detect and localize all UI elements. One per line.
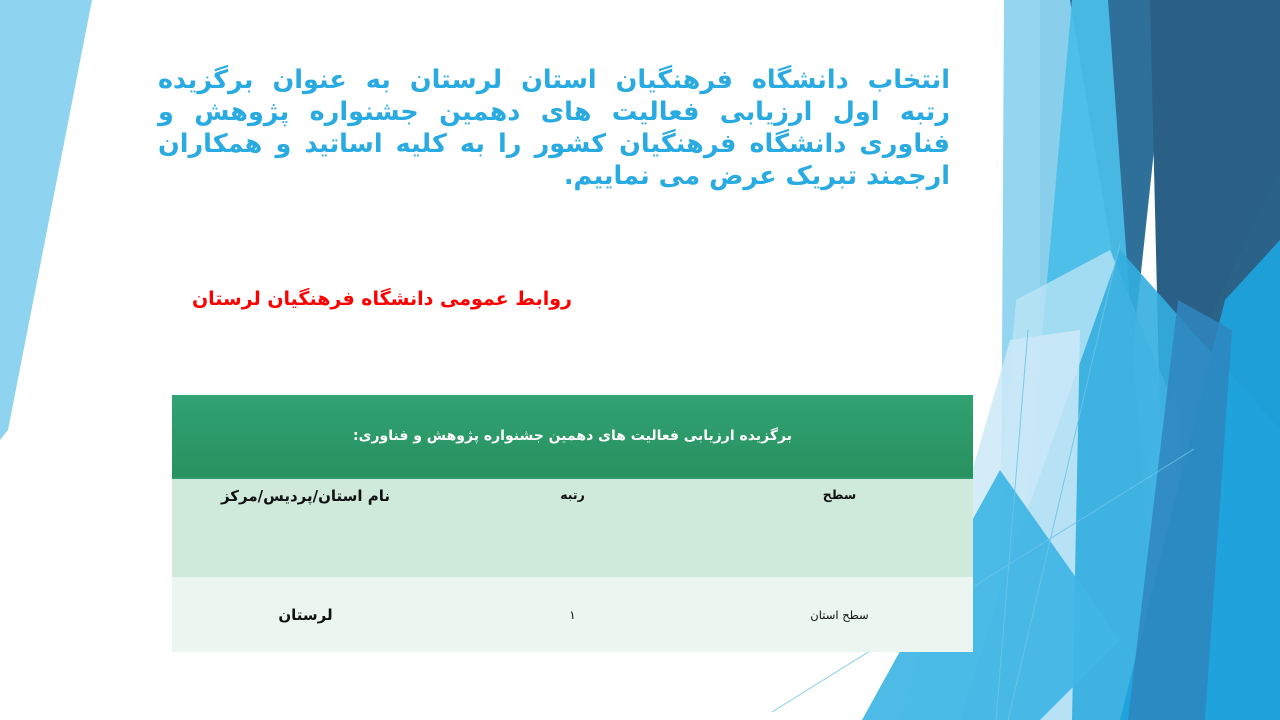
- column-header-rank: رتبه: [439, 478, 706, 577]
- title-line-3: فناوری دانشگاه فرهنگیان کشور را به کلیه …: [158, 128, 950, 160]
- column-header-name: نام استان/پردیس/مرکز: [172, 478, 439, 577]
- shape-left-wedge: [0, 0, 92, 440]
- column-header-level: سطح: [706, 478, 973, 577]
- results-table: برگزیده ارزیابی فعالیت های دهمین جشنواره…: [172, 395, 973, 652]
- public-relations-credit: روابط عمومی دانشگاه فرهنگیان لرستان: [192, 286, 572, 312]
- cell-name: لرستان: [172, 577, 439, 652]
- presentation-slide: انتخاب دانشگاه فرهنگیان استان لرستان به …: [0, 0, 1280, 720]
- page-title: انتخاب دانشگاه فرهنگیان استان لرستان به …: [158, 64, 950, 192]
- table-row: سطح استان ۱ لرستان: [172, 577, 973, 652]
- cell-level: سطح استان: [706, 577, 973, 652]
- cell-rank: ۱: [439, 577, 706, 652]
- title-line-1: انتخاب دانشگاه فرهنگیان استان لرستان به …: [158, 64, 950, 96]
- table-caption: برگزیده ارزیابی فعالیت های دهمین جشنواره…: [172, 395, 973, 478]
- table-caption-row: برگزیده ارزیابی فعالیت های دهمین جشنواره…: [172, 395, 973, 478]
- title-line-4: ارجمند تبریک عرض می نماییم.: [158, 160, 950, 192]
- table-header-row: سطح رتبه نام استان/پردیس/مرکز: [172, 478, 973, 577]
- title-line-2: رتبه اول ارزیابی فعالیت های دهمین جشنوار…: [158, 96, 950, 128]
